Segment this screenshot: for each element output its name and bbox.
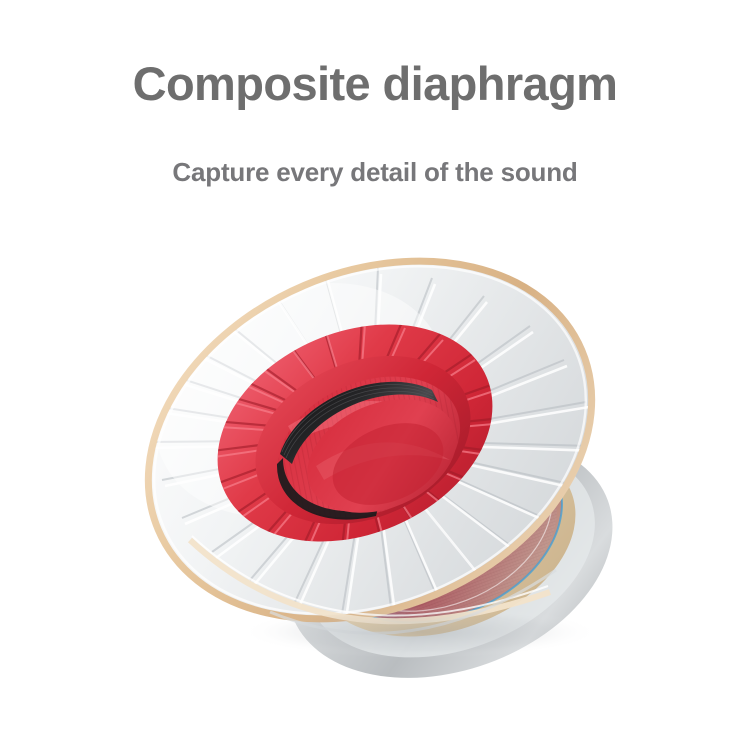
composite-diaphragm-graphic <box>120 240 640 680</box>
page-title: Composite diaphragm <box>0 58 750 111</box>
headings-block: Composite diaphragm Capture every detail… <box>0 0 750 188</box>
page-subtitle: Capture every detail of the sound <box>0 111 750 188</box>
product-feature-page: Composite diaphragm Capture every detail… <box>0 0 750 750</box>
product-illustration <box>120 240 640 680</box>
contact-shadow <box>240 606 600 658</box>
